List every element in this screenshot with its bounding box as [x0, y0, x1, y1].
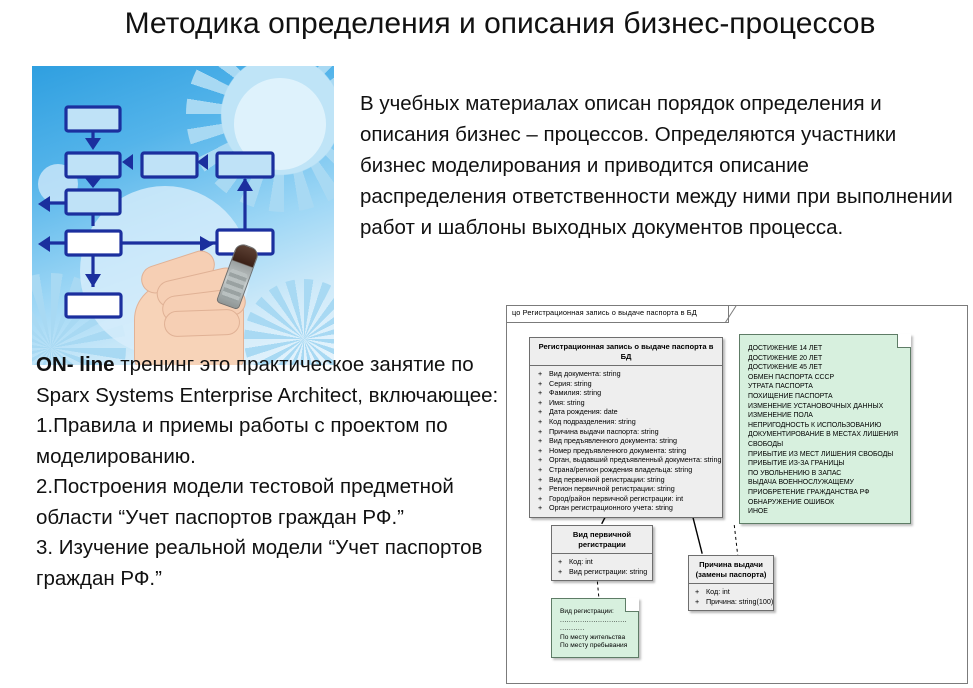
note-line: ДОСТИЖЕНИЕ 14 ЛЕТ	[748, 344, 904, 354]
uml-class-attributes: +Код: int +Причина: string(100)	[689, 584, 773, 610]
note-line: ПРИБЫТИЕ ИЗ-ЗА ГРАНИЦЫ	[748, 459, 904, 469]
uml-attribute: +Номер предъявленного документа: string	[538, 446, 720, 456]
uml-attribute: +Орган регистрационного учета: string	[538, 503, 720, 513]
hand-drawing-flowchart-photo	[32, 66, 334, 365]
note-line: ДОКУМЕНТИРОВАНИЕ В МЕСТАХ ЛИШЕНИЯ	[748, 430, 904, 440]
uml-class-title-line1: Причина выдачи	[692, 560, 770, 570]
uml-class-title-line2: (замены паспорта)	[692, 570, 770, 580]
body-text-block: ON- line тренинг это практическое заняти…	[36, 350, 506, 594]
uml-class-attributes: +Вид документа: string +Серия: string +Ф…	[530, 366, 722, 517]
note-line: УТРАТА ПАСПОРТА	[748, 382, 904, 392]
uml-class-title: Вид первичной регистрации	[552, 526, 652, 554]
note-line: ИЗМЕНЕНИЕ УСТАНОВОЧНЫХ ДАННЫХ	[748, 402, 904, 412]
uml-class-issue-reason[interactable]: Причина выдачи (замены паспорта) +Код: i…	[688, 555, 774, 611]
uml-attribute: +Вид регистрации: string	[558, 567, 650, 577]
uml-attribute: +Вид документа: string	[538, 369, 720, 379]
uml-note-issue-reasons[interactable]: ДОСТИЖЕНИЕ 14 ЛЕТ ДОСТИЖЕНИЕ 20 ЛЕТ ДОСТ…	[739, 334, 911, 524]
uml-class-title: Причина выдачи (замены паспорта)	[689, 556, 773, 584]
uml-attribute: +Страна/регион рождения владельца: strin…	[538, 465, 720, 475]
body-list-item: 3. Изучение реальной модели “Учет паспор…	[36, 533, 506, 594]
uml-attribute: +Причина: string(100)	[695, 597, 771, 607]
uml-attribute: +Регион первичной регистрации: string	[538, 484, 720, 494]
uml-attribute: +Серия: string	[538, 379, 720, 389]
note-line: ...........	[560, 625, 632, 634]
uml-diagram-frame: цо Регистрационная запись о выдаче паспо…	[506, 305, 968, 684]
note-line: ПО УВОЛЬНЕНИЮ В ЗАПАС	[748, 469, 904, 479]
note-line: ОБМЕН ПАСПОРТА СССР	[748, 373, 904, 383]
note-line: ПРИОБРЕТЕНИЕ ГРАЖДАНСТВА РФ	[748, 488, 904, 498]
uml-class-attributes: +Код: int +Вид регистрации: string	[552, 554, 652, 580]
note-line: Вид регистрации:	[560, 608, 632, 617]
note-line: ПОХИЩЕНИЕ ПАСПОРТА	[748, 392, 904, 402]
body-lead-bold: ON- line	[36, 353, 115, 376]
note-line: ДОСТИЖЕНИЕ 45 ЛЕТ	[748, 363, 904, 373]
hand-illustration	[128, 238, 268, 365]
uml-attribute: +Вид предъявленного документа: string	[538, 436, 720, 446]
note-line: По месту пребывания	[560, 642, 632, 651]
note-fold-icon	[897, 334, 911, 348]
uml-note-body: ДОСТИЖЕНИЕ 14 ЛЕТ ДОСТИЖЕНИЕ 20 ЛЕТ ДОСТ…	[740, 335, 910, 523]
note-fold-icon	[625, 598, 639, 612]
intro-paragraph: В учебных материалах описан порядок опре…	[360, 88, 960, 243]
note-line: СВОБОДЫ	[748, 440, 904, 450]
uml-attribute: +Имя: string	[538, 398, 720, 408]
note-line: ОБНАРУЖЕНИЕ ОШИБОК	[748, 498, 904, 508]
page-title: Методика определения и описания бизнес-п…	[120, 6, 880, 42]
uml-attribute: +Фамилия: string	[538, 388, 720, 398]
uml-class-registration-record[interactable]: Регистрационная запись о выдаче паспорта…	[529, 337, 723, 518]
note-line: ИНОЕ	[748, 507, 904, 517]
body-list-item: 1.Правила и приемы работы с проектом по …	[36, 411, 506, 472]
note-line: НЕПРИГОДНОСТЬ К ИСПОЛЬЗОВАНИЮ	[748, 421, 904, 431]
uml-note-registration-types[interactable]: Вид регистрации: .......................…	[551, 598, 639, 658]
slide-root: Методика определения и описания бизнес-п…	[0, 0, 973, 688]
uml-attribute: +Код: int	[695, 587, 771, 597]
note-line: ВЫДАЧА ВОЕННОСЛУЖАЩЕМУ	[748, 478, 904, 488]
uml-attribute: +Причина выдачи паспорта: string	[538, 427, 720, 437]
note-line: ПРИБЫТИЕ ИЗ МЕСТ ЛИШЕНИЯ СВОБОДЫ	[748, 450, 904, 460]
uml-class-primary-registration-type[interactable]: Вид первичной регистрации +Код: int +Вид…	[551, 525, 653, 581]
body-list-item: 2.Построения модели тестовой предметной …	[36, 472, 506, 533]
note-line: ИЗМЕНЕНИЕ ПОЛА	[748, 411, 904, 421]
note-line: ..............................	[560, 617, 632, 626]
note-line: ДОСТИЖЕНИЕ 20 ЛЕТ	[748, 354, 904, 364]
uml-attribute: +Код подразделения: string	[538, 417, 720, 427]
uml-attribute: +Орган, выдавший предъявленный документа…	[538, 455, 720, 465]
uml-attribute: +Код: int	[558, 557, 650, 567]
finger	[164, 309, 241, 338]
uml-class-title: Регистрационная запись о выдаче паспорта…	[530, 338, 722, 366]
uml-attribute: +Дата рождения: date	[538, 407, 720, 417]
uml-attribute: +Город/район первичной регистрации: int	[538, 494, 720, 504]
uml-attribute: +Вид первичной регистрации: string	[538, 475, 720, 485]
